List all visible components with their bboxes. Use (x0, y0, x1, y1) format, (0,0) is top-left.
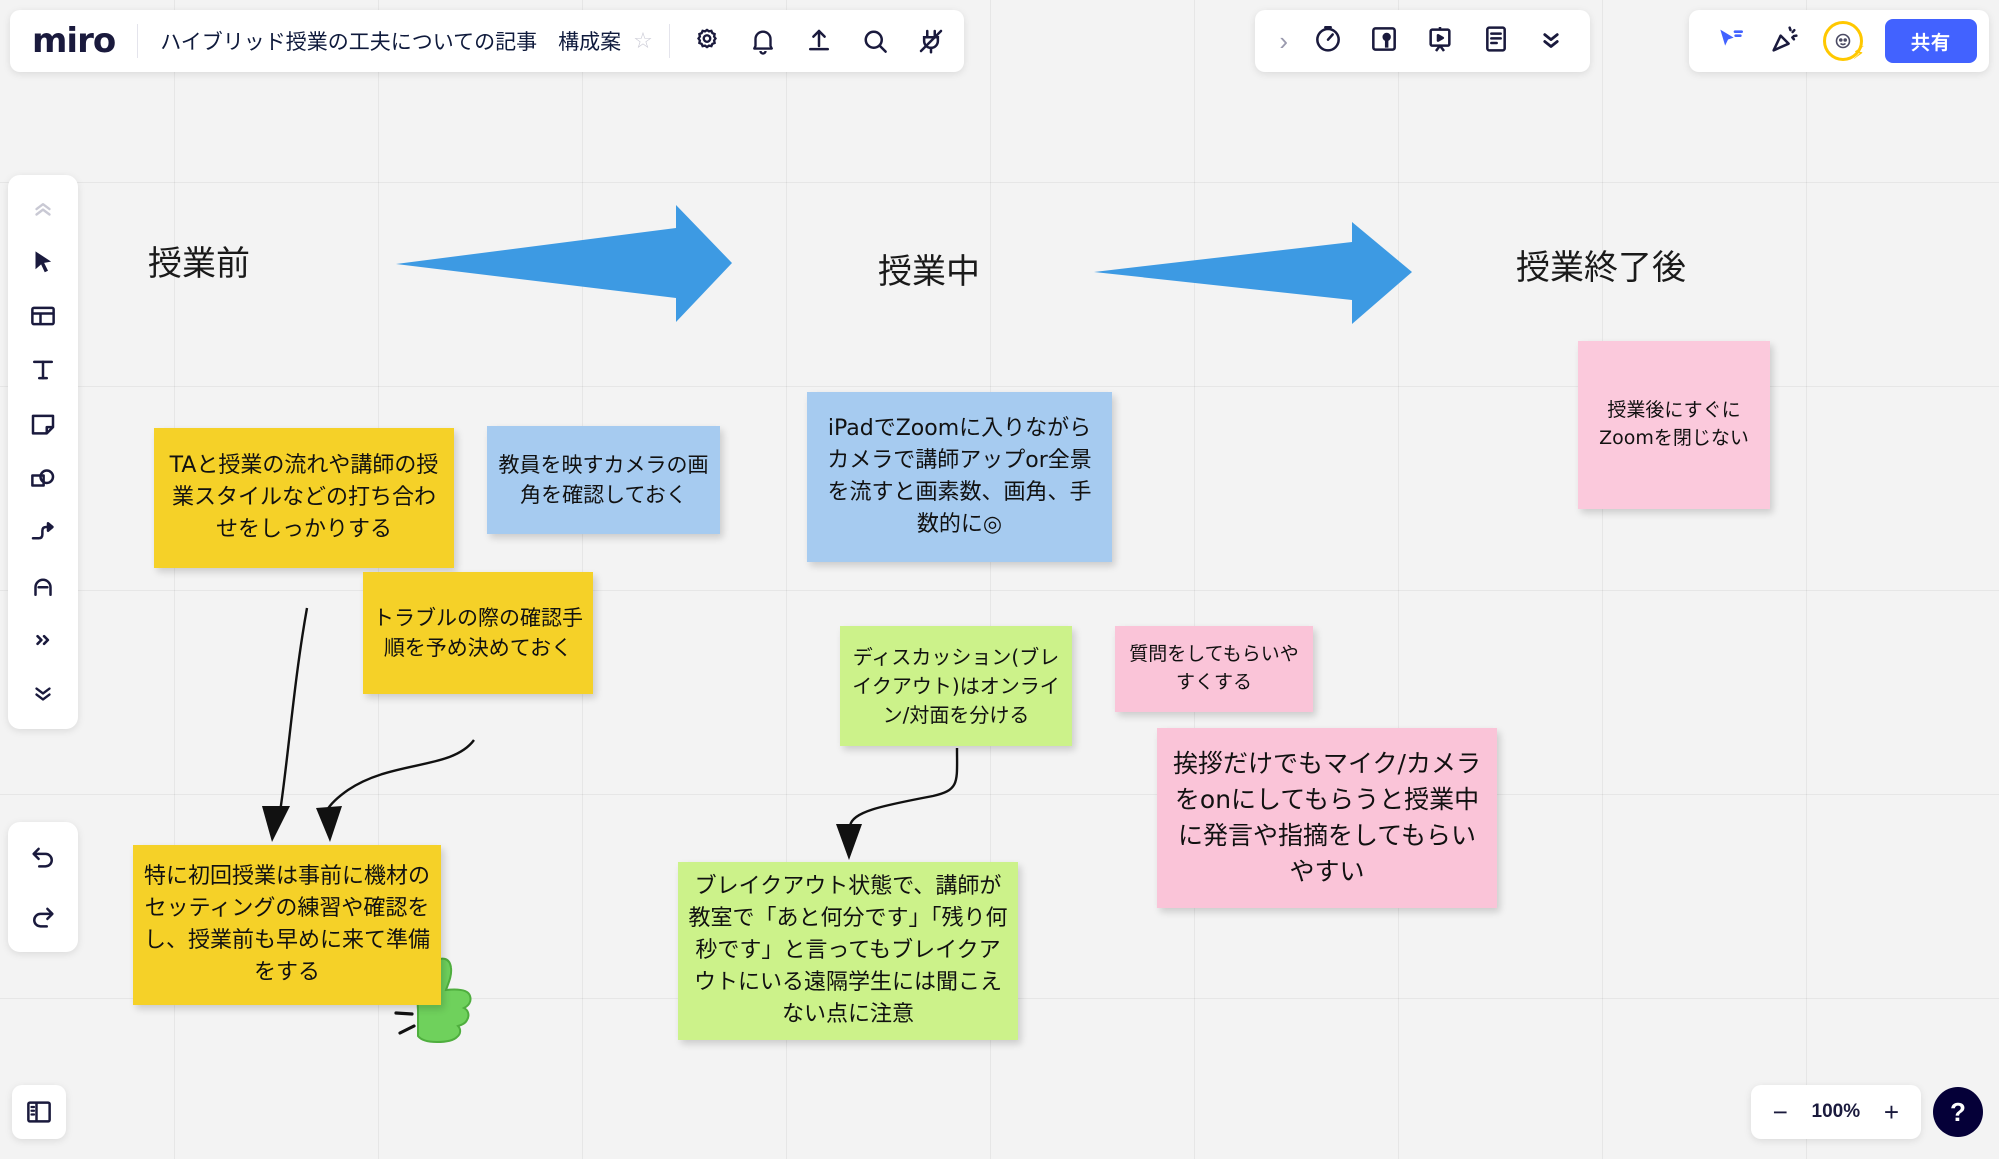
presentation-icon[interactable] (1424, 23, 1456, 60)
sticky-note-text: 挨拶だけでもマイク/カメラをonにしてもらうと授業中に発言や指摘をしてもらいやす… (1167, 746, 1487, 891)
sticky-note-ta-meeting[interactable]: TAと授業の流れや講師の授業スタイルなどの打ち合わせをしっかりする (154, 428, 454, 568)
sticky-note-text: ブレイクアウト状態で、講師が教室で「あと何分です」「残り何秒です」と言ってもブレ… (688, 871, 1008, 1030)
expand-tools-icon[interactable] (30, 675, 56, 713)
top-header-bar: miro ハイブリッド授業の工夫についての記事 構成案 ☆ (10, 10, 964, 72)
sticky-note-ask-questions[interactable]: 質問をしてもらいやすくする (1115, 626, 1313, 712)
undo-icon[interactable] (28, 838, 58, 876)
sticky-note-camera-angle[interactable]: 教員を映すカメラの画角を確認しておく (487, 426, 720, 534)
cursor-chat-icon[interactable] (1715, 23, 1747, 60)
sticky-note-mic-camera-on[interactable]: 挨拶だけでもマイク/カメラをonにしてもらうと授業中に発言や指摘をしてもらいやす… (1157, 728, 1497, 908)
timer-icon[interactable] (1312, 23, 1344, 60)
sticky-note-trouble-steps[interactable]: トラブルの際の確認手順を予め決めておく (363, 572, 593, 694)
sticky-note-text: ディスカッション(ブレイクアウト)はオンライン/対面を分ける (850, 643, 1062, 730)
sticky-note-text: 質問をしてもらいやすくする (1125, 641, 1303, 696)
top-right-toolbar-collab: ⚡ 共有 (1689, 10, 1989, 72)
video-chat-icon[interactable] (1368, 23, 1400, 60)
text-tool[interactable] (28, 351, 58, 389)
favorite-star-icon[interactable]: ☆ (633, 28, 669, 54)
sticky-note-text: トラブルの際の確認手順を予め決めておく (373, 603, 583, 664)
zoom-in-button[interactable]: + (1884, 1099, 1899, 1125)
miro-board-app: 授業前 授業中 授業終了後 T (0, 0, 1999, 1159)
party-popper-icon[interactable] (1769, 23, 1801, 60)
phase-heading-during[interactable]: 授業中 (878, 244, 980, 293)
select-cursor-tool[interactable] (28, 243, 58, 281)
shapes-tool[interactable] (28, 459, 58, 497)
integrations-icon[interactable] (916, 26, 946, 56)
search-icon[interactable] (860, 26, 890, 56)
more-down-icon[interactable] (1536, 24, 1566, 59)
sticky-note-text: 授業後にすぐにZoomを閉じない (1588, 397, 1760, 452)
sticky-note-ipad-zoom[interactable]: iPadでZoomに入りながらカメラで講師アップor全景を流すと画素数、画角、手… (807, 392, 1112, 562)
help-button[interactable]: ? (1933, 1087, 1983, 1137)
notification-bell-icon[interactable] (748, 26, 778, 56)
sticky-note-text: TAと授業の流れや講師の授業スタイルなどの打ち合わせをしっかりする (164, 450, 444, 546)
expand-right-chevron-icon[interactable]: › (1279, 28, 1288, 54)
settings-gear-icon[interactable] (692, 26, 722, 56)
zoom-out-button[interactable]: − (1773, 1099, 1788, 1125)
zoom-controls: − 100% + (1751, 1085, 1921, 1139)
open-panel-icon[interactable] (12, 1085, 66, 1139)
sticky-note-text: 特に初回授業は事前に機材のセッティングの練習や確認をし、授業前も早めに来て準備を… (143, 861, 431, 989)
avatar-bolt-icon: ⚡ (1852, 44, 1865, 62)
share-button[interactable]: 共有 (1885, 19, 1977, 63)
connector-tool[interactable] (28, 513, 58, 551)
user-avatar[interactable]: ⚡ (1823, 21, 1863, 61)
notes-document-icon[interactable] (1480, 23, 1512, 60)
templates-tool[interactable] (28, 297, 58, 335)
phase-heading-after[interactable]: 授業終了後 (1516, 240, 1686, 289)
board-title[interactable]: ハイブリッド授業の工夫についての記事 構成案 (138, 26, 633, 56)
upload-icon[interactable] (804, 26, 834, 56)
sticky-note-dont-close-zoom[interactable]: 授業後にすぐにZoomを閉じない (1578, 341, 1770, 509)
header-icon-group (670, 26, 946, 56)
sticky-note-breakout-audio[interactable]: ブレイクアウト状態で、講師が教室で「あと何分です」「残り何秒です」と言ってもブレ… (678, 862, 1018, 1040)
redo-icon[interactable] (28, 898, 58, 936)
pen-tool[interactable] (28, 567, 58, 605)
sticky-note-text: 教員を映すカメラの画角を確認しておく (497, 450, 710, 511)
collapse-tools-icon[interactable] (30, 189, 56, 227)
zoom-level-value[interactable]: 100% (1808, 1101, 1864, 1123)
top-right-toolbar-tools: › (1255, 10, 1590, 72)
sticky-note-text: iPadでZoomに入りながらカメラで講師アップor全景を流すと画素数、画角、手… (817, 413, 1102, 541)
miro-logo[interactable]: miro (32, 24, 137, 58)
undo-redo-panel (8, 822, 78, 952)
sticky-note-first-class-prep[interactable]: 特に初回授業は事前に機材のセッティングの練習や確認をし、授業前も早めに来て準備を… (133, 845, 441, 1005)
more-tools-icon[interactable] (30, 621, 56, 659)
sticky-note-discussion-breakout[interactable]: ディスカッション(ブレイクアウト)はオンライン/対面を分ける (840, 626, 1072, 746)
left-tool-panel (8, 175, 78, 729)
phase-heading-before[interactable]: 授業前 (148, 236, 250, 285)
sticky-note-tool[interactable] (28, 405, 58, 443)
